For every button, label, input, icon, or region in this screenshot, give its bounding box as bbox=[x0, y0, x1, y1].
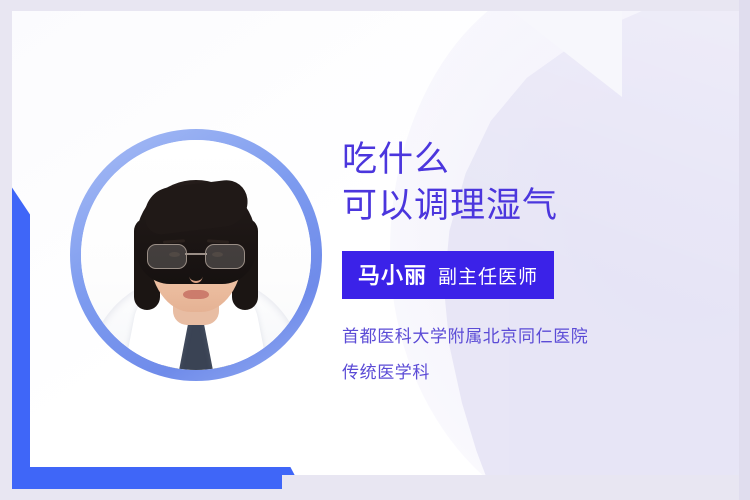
accent-band-bottom bbox=[12, 467, 302, 489]
doctor-name: 马小丽 bbox=[358, 258, 427, 290]
mouth bbox=[183, 290, 209, 299]
affiliation: 首都医科大学附属北京同仁医院 传统医学科 bbox=[342, 319, 722, 390]
glasses-lens-left bbox=[147, 244, 187, 269]
title-line-2: 可以调理湿气 bbox=[342, 186, 558, 225]
page-title: 吃什么可以调理湿气 bbox=[342, 137, 722, 229]
hospital-name: 首都医科大学附属北京同仁医院 bbox=[342, 319, 722, 355]
portrait-photo-frame bbox=[81, 140, 311, 370]
title-line-1: 吃什么 bbox=[342, 140, 450, 179]
accent-band-left bbox=[12, 174, 30, 489]
accent-strip-bottom-right bbox=[282, 475, 750, 489]
doctor-video-cover: 吃什么可以调理湿气 马小丽 副主任医师 首都医科大学附属北京同仁医院 传统医学科 bbox=[0, 0, 750, 500]
glasses-lens-right bbox=[205, 244, 245, 269]
cover-card: 吃什么可以调理湿气 马小丽 副主任医师 首都医科大学附属北京同仁医院 传统医学科 bbox=[12, 11, 750, 489]
department-name: 传统医学科 bbox=[342, 355, 722, 391]
glasses-icon bbox=[147, 244, 245, 268]
page-edge-right bbox=[739, 0, 750, 500]
cover-content: 吃什么可以调理湿气 马小丽 副主任医师 首都医科大学附属北京同仁医院 传统医学科 bbox=[342, 137, 722, 391]
doctor-badge: 马小丽 副主任医师 bbox=[342, 251, 554, 299]
doctor-portrait bbox=[70, 129, 322, 381]
glasses-bridge bbox=[185, 253, 207, 255]
nose bbox=[190, 266, 203, 283]
doctor-photo bbox=[81, 140, 311, 370]
page-edge-top bbox=[0, 0, 750, 11]
doctor-rank: 副主任医师 bbox=[438, 262, 538, 289]
